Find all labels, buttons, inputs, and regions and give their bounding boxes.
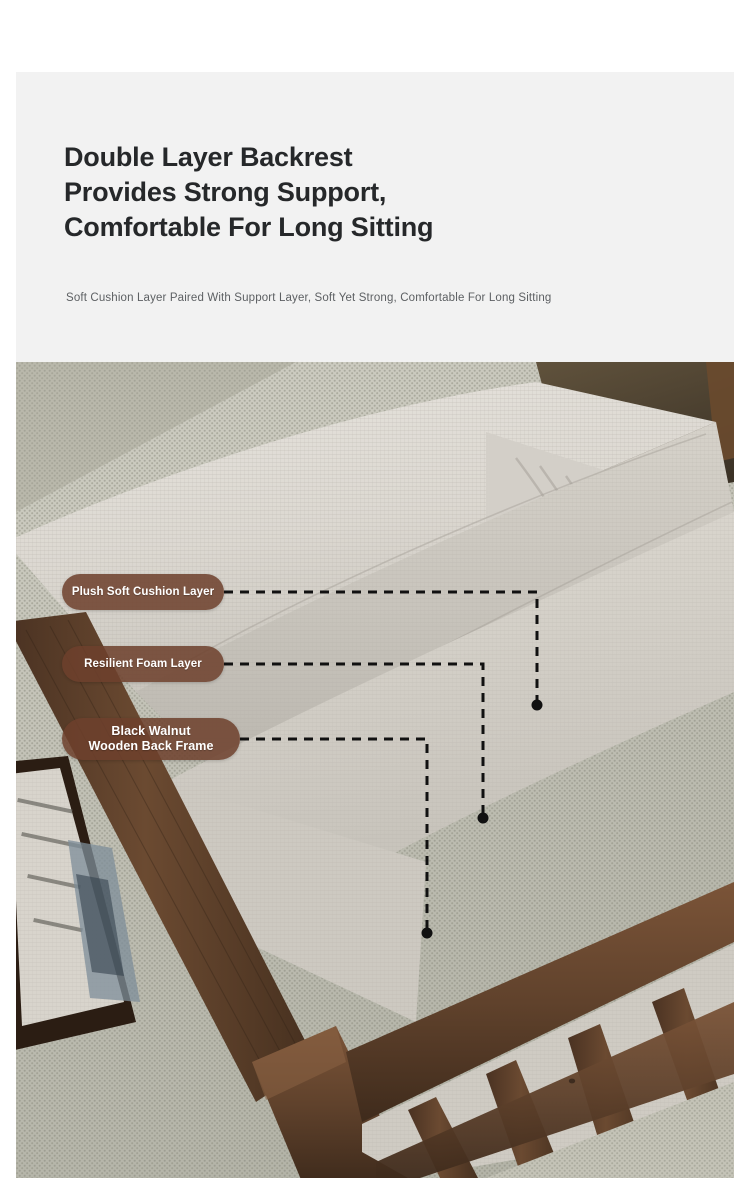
- page-title: Double Layer Backrest Provides Strong Su…: [64, 140, 684, 245]
- sofa-closeup-illustration: [16, 362, 734, 1178]
- callout-label: Resilient Foam Layer: [84, 657, 202, 671]
- product-photo: [16, 362, 734, 1178]
- product-detail-page: Double Layer Backrest Provides Strong Su…: [0, 0, 750, 1178]
- headline-line-1: Double Layer Backrest: [64, 140, 684, 175]
- headline-banner: Double Layer Backrest Provides Strong Su…: [16, 72, 734, 362]
- callout-label: Plush Soft Cushion Layer: [72, 585, 214, 599]
- callout-black-walnut-wooden-back-frame[interactable]: Black Walnut Wooden Back Frame: [62, 718, 240, 760]
- subheadline: Soft Cushion Layer Paired With Support L…: [66, 292, 706, 304]
- callout-resilient-foam-layer[interactable]: Resilient Foam Layer: [62, 646, 224, 682]
- callout-label: Black Walnut Wooden Back Frame: [88, 724, 213, 755]
- headline-line-2: Provides Strong Support,: [64, 175, 684, 210]
- callout-plush-soft-cushion-layer[interactable]: Plush Soft Cushion Layer: [62, 574, 224, 610]
- headline-line-3: Comfortable For Long Sitting: [64, 210, 684, 245]
